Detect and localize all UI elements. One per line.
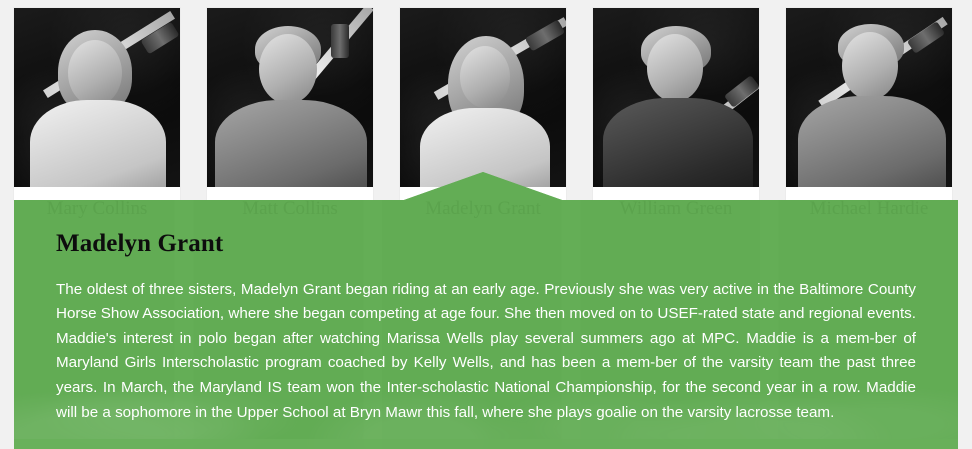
profile-bio-text: The oldest of three sisters, Madelyn Gra… bbox=[56, 278, 916, 426]
figure-head bbox=[68, 40, 122, 106]
banner-pointer-arrow-icon bbox=[14, 172, 958, 202]
figure-head bbox=[460, 46, 510, 108]
matt-collins-photo[interactable] bbox=[207, 8, 373, 187]
figure-head bbox=[647, 34, 703, 102]
profile-banner: Mary Collins Matt Collins Madelyn Grant … bbox=[14, 172, 958, 449]
profile-title: Madelyn Grant bbox=[56, 230, 916, 258]
figure-head bbox=[842, 32, 898, 100]
michael-hardie-photo[interactable] bbox=[786, 8, 952, 187]
page-root: Mary Collins Matt Collins Madelyn Grant … bbox=[0, 0, 972, 449]
profile-content: Madelyn Grant The oldest of three sister… bbox=[14, 200, 958, 449]
figure-head bbox=[259, 34, 317, 104]
william-green-photo[interactable] bbox=[593, 8, 759, 187]
madelyn-grant-photo[interactable] bbox=[400, 8, 566, 187]
mary-collins-photo[interactable] bbox=[14, 8, 180, 187]
mallet-head-icon bbox=[331, 24, 349, 58]
